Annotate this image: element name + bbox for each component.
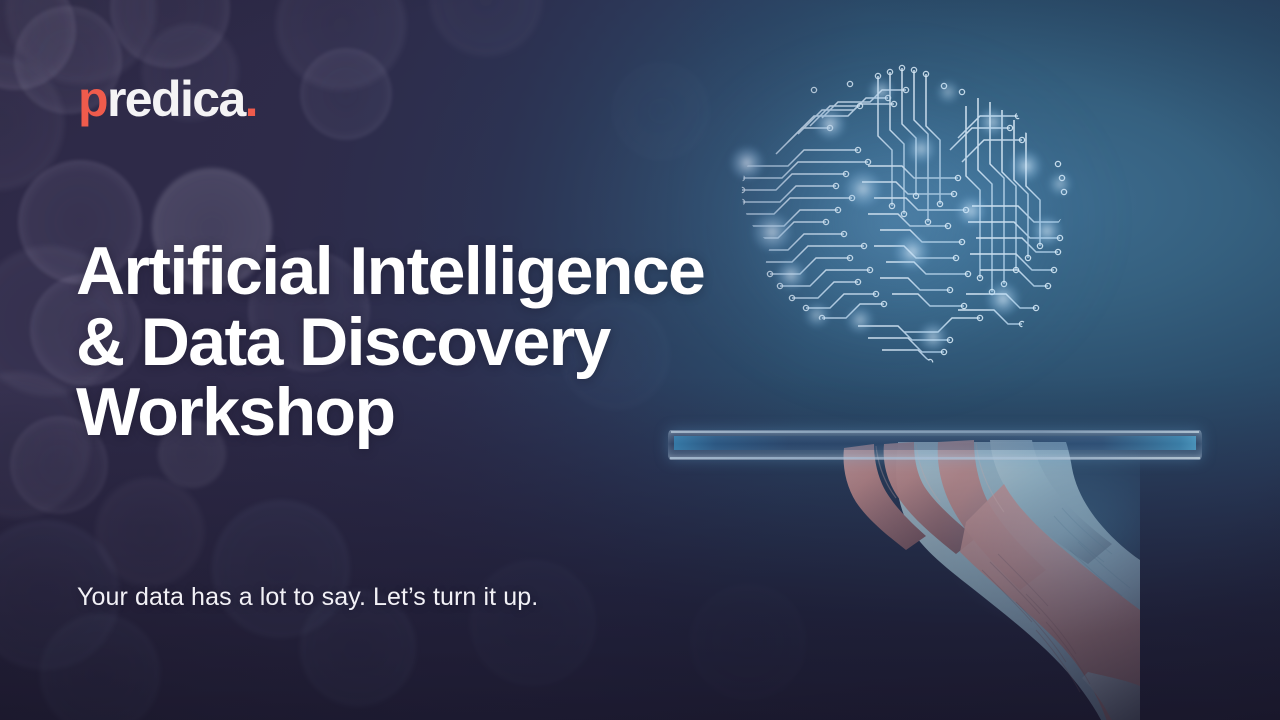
logo-dot: . bbox=[245, 71, 257, 127]
slide-canvas: predica. Artificial Intelligence & Data … bbox=[0, 0, 1280, 720]
page-title: Artificial Intelligence & Data Discovery… bbox=[76, 236, 796, 448]
tagline: Your data has a lot to say. Let’s turn i… bbox=[77, 583, 538, 612]
logo-mark-letter: p bbox=[78, 71, 107, 127]
logo-wordmark: redica bbox=[107, 71, 245, 127]
title-line-2: & Data Discovery bbox=[76, 307, 796, 378]
title-line-3: Workshop bbox=[76, 377, 796, 448]
predica-logo[interactable]: predica. bbox=[78, 74, 257, 124]
title-line-1: Artificial Intelligence bbox=[76, 236, 796, 307]
